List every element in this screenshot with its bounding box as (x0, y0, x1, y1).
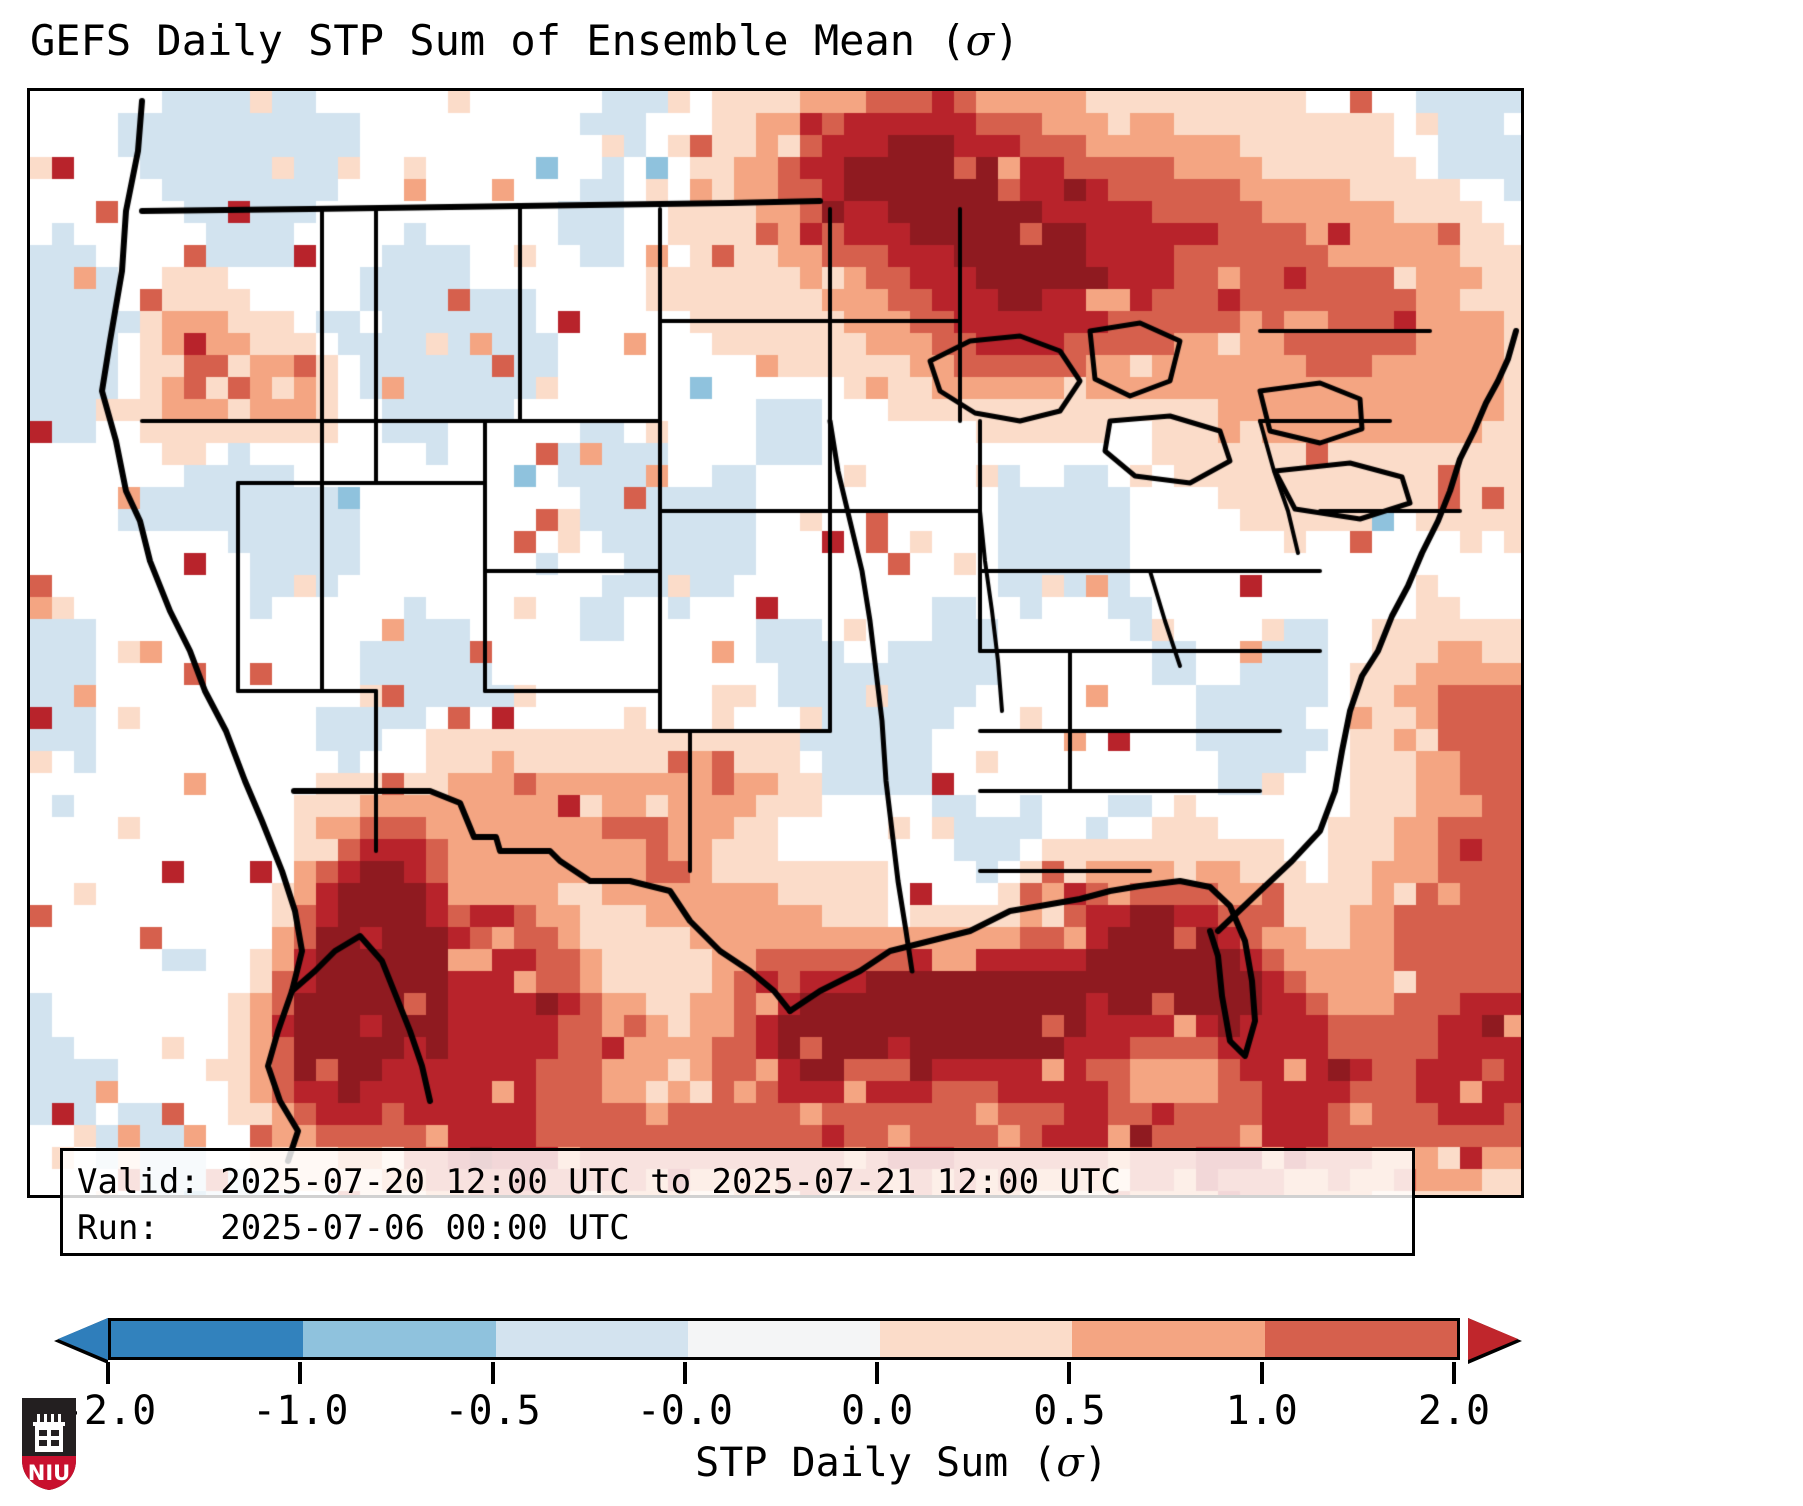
colorbar-extend-left-arrow (58, 1318, 108, 1360)
colorbar-band-5 (1072, 1321, 1264, 1357)
colorbar-label-suffix: ) (1084, 1440, 1108, 1486)
sigma-symbol: σ (966, 16, 995, 65)
colorbar-tick-mark-3 (683, 1362, 687, 1384)
colorbar-tick-label-4: 0.0 (841, 1388, 913, 1434)
colorbar-tick-mark-4 (875, 1362, 879, 1384)
colorbar-tick-mark-1 (298, 1362, 302, 1384)
colorbar-tick-mark-6 (1260, 1362, 1264, 1384)
valid-time-line: Valid: 2025-07-20 12:00 UTC to 2025-07-2… (77, 1159, 1398, 1205)
map-panel[interactable] (27, 88, 1524, 1198)
niu-logo: NIU (18, 1396, 80, 1492)
colorbar-tick-label-1: -1.0 (252, 1388, 348, 1434)
colorbar-extend-right-arrow (1468, 1318, 1518, 1360)
colorbar-band-4 (880, 1321, 1072, 1357)
colorbar-band-3 (688, 1321, 880, 1357)
sigma-symbol-colorbar: σ (1056, 1440, 1083, 1486)
colorbar-band-0 (111, 1321, 303, 1357)
colorbar-tick-mark-2 (491, 1362, 495, 1384)
page-title: GEFS Daily STP Sum of Ensemble Mean (σ) (30, 16, 1020, 65)
colorbar-tick-label-6: 1.0 (1226, 1388, 1298, 1434)
colorbar-tick-mark-5 (1067, 1362, 1071, 1384)
colorbar[interactable] (40, 1318, 1530, 1364)
colorbar-label-text: STP Daily Sum ( (695, 1440, 1056, 1486)
page-title-text: GEFS Daily STP Sum of Ensemble Mean ( (30, 16, 966, 65)
map-heatmap-canvas[interactable] (30, 91, 1521, 1195)
colorbar-tick-mark-0 (106, 1362, 110, 1384)
colorbar-band-1 (303, 1321, 495, 1357)
colorbar-bands[interactable] (108, 1318, 1460, 1360)
valid-run-info-box: Valid: 2025-07-20 12:00 UTC to 2025-07-2… (60, 1148, 1415, 1256)
colorbar-tick-label-3: -0.0 (637, 1388, 733, 1434)
colorbar-band-6 (1265, 1321, 1457, 1357)
run-time-line: Run: 2025-07-06 00:00 UTC (77, 1205, 1398, 1251)
page-title-suffix: ) (994, 16, 1019, 65)
colorbar-band-2 (496, 1321, 688, 1357)
niu-logo-text: NIU (28, 1461, 70, 1485)
colorbar-tick-label-5: 0.5 (1033, 1388, 1105, 1434)
colorbar-axis-label: STP Daily Sum (σ) (0, 1440, 1803, 1486)
colorbar-tick-label-7: 2.0 (1418, 1388, 1490, 1434)
colorbar-tick-mark-7 (1452, 1362, 1456, 1384)
colorbar-tick-label-2: -0.5 (444, 1388, 540, 1434)
